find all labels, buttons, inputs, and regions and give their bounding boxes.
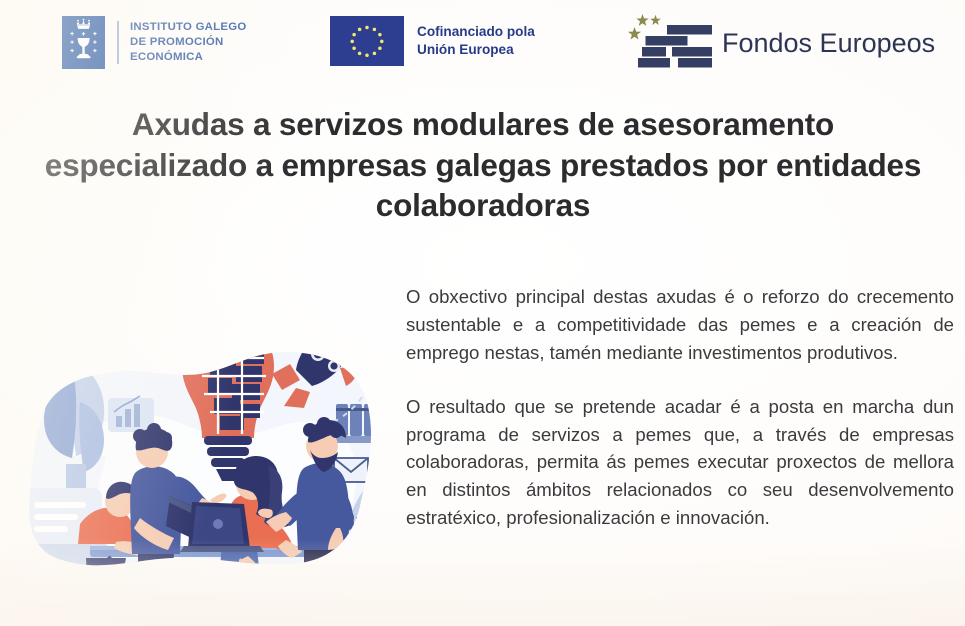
logo-divider [117,21,119,64]
galicia-coat-of-arms-icon [62,16,105,69]
fondos-europeos-mark-icon [622,8,714,78]
eu-flag-icon [330,16,404,66]
paragraph-objective: O obxectivo principal destas axudas é o … [406,283,954,367]
paragraph-result: O resultado que se pretende acadar é a p… [406,393,954,532]
leaflet-page: INSTITUTO GALEGO DE PROMOCIÓN ECONÓMICA [0,0,965,626]
eu-label: Cofinanciado pola Unión Europea [417,23,535,58]
logo-igape: INSTITUTO GALEGO DE PROMOCIÓN ECONÓMICA [62,16,246,69]
logo-bar: INSTITUTO GALEGO DE PROMOCIÓN ECONÓMICA [0,0,965,88]
body-text-column: O obxectivo principal destas axudas é o … [406,283,954,532]
logo-fondos-europeos: Fondos Europeos [622,8,935,78]
logo-european-union: Cofinanciado pola Unión Europea [330,16,535,66]
fondos-europeos-label: Fondos Europeos [722,30,935,57]
team-brainstorming-illustration [4,306,396,618]
page-title: Axudas a servizos modulares de asesorame… [40,104,926,226]
igape-label: INSTITUTO GALEGO DE PROMOCIÓN ECONÓMICA [130,20,246,66]
chart-panel-decor [108,396,154,432]
